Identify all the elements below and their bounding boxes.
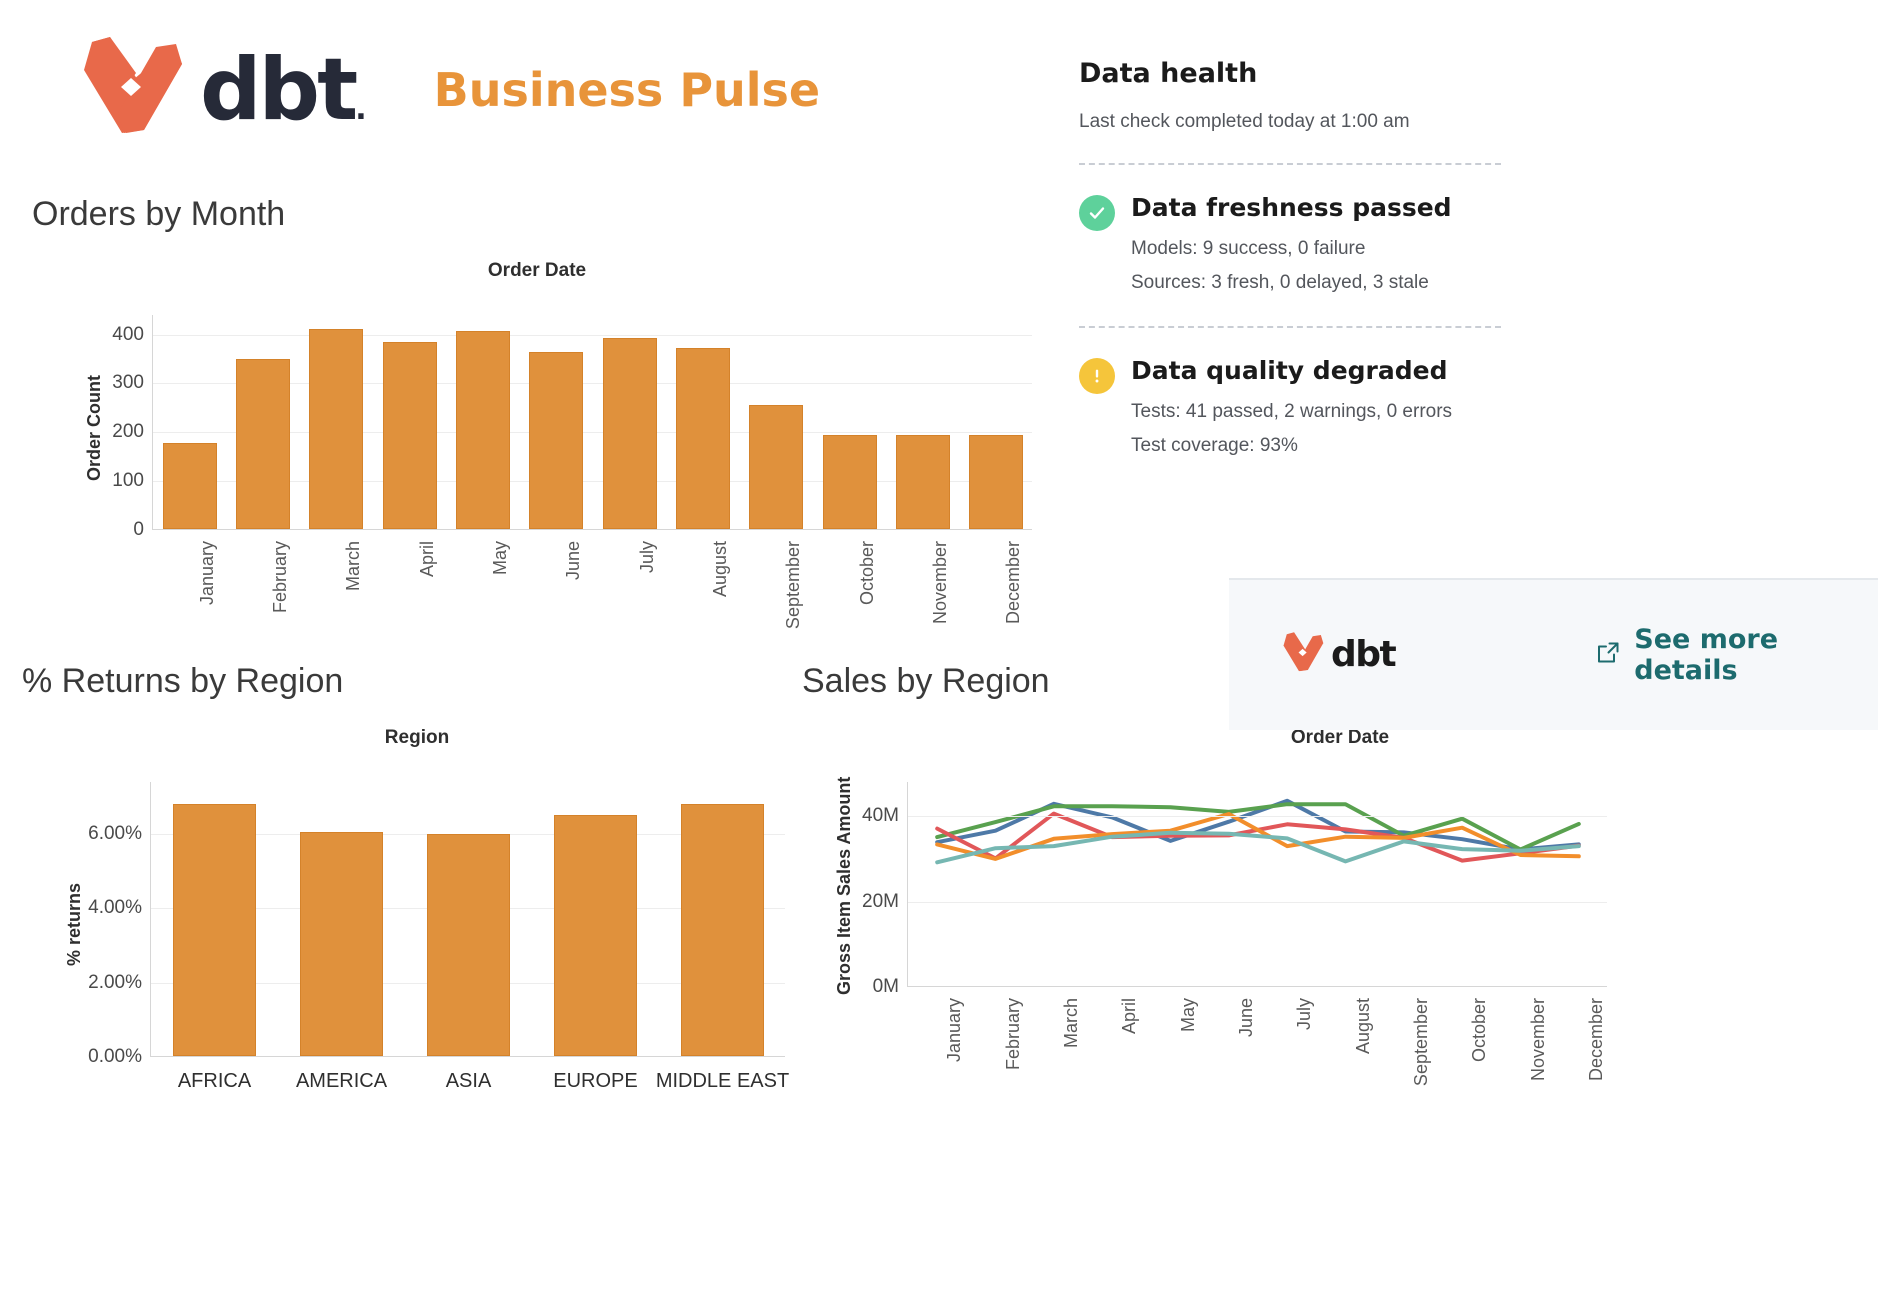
returns-column-title: Region bbox=[22, 727, 812, 749]
dbt-wordmark-dot: . bbox=[355, 92, 363, 127]
dbt-logo: dbt. bbox=[78, 34, 364, 145]
data-health-panel: Data health Last check completed today a… bbox=[1079, 58, 1509, 469]
x-axis-tick: August bbox=[710, 541, 731, 597]
x-axis-tick: February bbox=[1003, 998, 1024, 1070]
returns-plot-area: 0.00%2.00%4.00%6.00%AFRICAAMERICAASIAEUR… bbox=[150, 782, 785, 1057]
health-item-quality-body: Data quality degraded Tests: 41 passed, … bbox=[1131, 356, 1509, 469]
returns-by-region-chart: Region % returns 0.00%2.00%4.00%6.00%AFR… bbox=[22, 727, 812, 1117]
dashboard-page: dbt. Business Pulse Orders by Month Orde… bbox=[0, 0, 1878, 1312]
y-axis-tick: 300 bbox=[112, 372, 144, 394]
x-axis-tick: January bbox=[197, 541, 218, 605]
exclamation-circle-icon bbox=[1079, 358, 1115, 394]
health-item-freshness-body: Data freshness passed Models: 9 success,… bbox=[1131, 193, 1509, 306]
x-axis-tick: April bbox=[417, 541, 438, 577]
dbt-x-logo-icon bbox=[78, 34, 186, 145]
bar[interactable] bbox=[969, 435, 1023, 529]
dashboard-header: dbt. Business Pulse bbox=[78, 34, 820, 145]
health-item-quality-line-1: Tests: 41 passed, 2 warnings, 0 errors bbox=[1131, 401, 1509, 423]
bar[interactable] bbox=[309, 329, 363, 529]
y-axis-tick: 20M bbox=[862, 891, 899, 913]
footer-dbt-wordmark: dbt bbox=[1331, 637, 1395, 673]
x-axis-tick: May bbox=[1178, 998, 1199, 1032]
sales-column-title: Order Date bbox=[802, 727, 1878, 749]
x-axis-tick: November bbox=[930, 541, 951, 624]
y-axis-tick: 6.00% bbox=[88, 823, 142, 845]
x-axis-tick: September bbox=[1411, 998, 1432, 1086]
sales-line-svg bbox=[908, 782, 1608, 987]
x-axis-tick: August bbox=[1353, 998, 1374, 1054]
dbt-wordmark: dbt. bbox=[200, 47, 364, 133]
x-axis-tick: EUROPE bbox=[553, 1070, 637, 1093]
dbt-wordmark-text: dbt bbox=[200, 40, 355, 140]
health-item-quality-line-2: Test coverage: 93% bbox=[1131, 435, 1509, 457]
y-axis-tick: 0.00% bbox=[88, 1046, 142, 1068]
x-axis-tick: March bbox=[1061, 998, 1082, 1048]
sales-y-axis-label: Gross Item Sales Amount bbox=[834, 776, 855, 994]
sales-plot-area: 0M20M40MJanuaryFebruaryMarchAprilMayJune… bbox=[907, 782, 1607, 987]
x-axis-tick: November bbox=[1528, 998, 1549, 1081]
orders-by-month-title: Orders by Month bbox=[32, 195, 1042, 234]
x-axis-tick: October bbox=[857, 541, 878, 605]
data-health-title: Data health bbox=[1079, 58, 1509, 89]
x-axis-tick: MIDDLE EAST bbox=[656, 1070, 789, 1093]
y-axis-tick: 0M bbox=[873, 976, 899, 998]
y-axis-tick: 4.00% bbox=[88, 897, 142, 919]
x-axis-tick: ASIA bbox=[446, 1070, 492, 1093]
y-axis-tick: 0 bbox=[133, 519, 144, 541]
gridline bbox=[908, 902, 1607, 903]
bar[interactable] bbox=[300, 832, 384, 1056]
health-item-freshness-line-1: Models: 9 success, 0 failure bbox=[1131, 238, 1509, 260]
bar[interactable] bbox=[681, 804, 765, 1056]
x-axis-tick: September bbox=[783, 541, 804, 629]
y-axis-tick: 40M bbox=[862, 805, 899, 827]
x-axis-tick: June bbox=[1236, 998, 1257, 1037]
x-axis-tick: July bbox=[1294, 998, 1315, 1030]
health-item-freshness-heading: Data freshness passed bbox=[1131, 193, 1509, 222]
x-axis-tick: February bbox=[270, 541, 291, 613]
sales-by-region-chart: Order Date Gross Item Sales Amount 0M20M… bbox=[802, 727, 1878, 1127]
orders-plot-area: 0100200300400JanuaryFebruaryMarchAprilMa… bbox=[152, 315, 1032, 530]
x-axis-tick: May bbox=[490, 541, 511, 575]
page-title: Business Pulse bbox=[434, 63, 821, 117]
sales-by-region-panel: Sales by Region Order Date Gross Item Sa… bbox=[802, 662, 1878, 1127]
x-axis-tick: July bbox=[637, 541, 658, 573]
gridline bbox=[908, 816, 1607, 817]
bar[interactable] bbox=[456, 331, 510, 529]
orders-column-title: Order Date bbox=[32, 260, 1042, 282]
bar[interactable] bbox=[529, 352, 583, 529]
external-link-icon bbox=[1595, 640, 1621, 671]
bar[interactable] bbox=[749, 405, 803, 529]
bar[interactable] bbox=[427, 834, 511, 1056]
gridline bbox=[153, 335, 1032, 336]
returns-y-axis-label: % returns bbox=[64, 882, 85, 965]
x-axis-tick: April bbox=[1119, 998, 1140, 1034]
x-axis-tick: AFRICA bbox=[178, 1070, 251, 1093]
check-circle-icon bbox=[1079, 195, 1115, 231]
health-item-freshness[interactable]: Data freshness passed Models: 9 success,… bbox=[1079, 165, 1509, 306]
health-item-freshness-line-2: Sources: 3 fresh, 0 delayed, 3 stale bbox=[1131, 272, 1509, 294]
bar[interactable] bbox=[554, 815, 638, 1056]
bar[interactable] bbox=[603, 338, 657, 529]
orders-by-month-chart: Order Date Order Count 0100200300400Janu… bbox=[32, 260, 1042, 660]
x-axis-tick: March bbox=[343, 541, 364, 591]
x-axis-tick: December bbox=[1586, 998, 1607, 1081]
dbt-x-logo-icon bbox=[1281, 631, 1325, 679]
returns-by-region-panel: % Returns by Region Region % returns 0.0… bbox=[22, 662, 812, 1117]
x-axis-tick: January bbox=[944, 998, 965, 1062]
returns-by-region-title: % Returns by Region bbox=[22, 662, 812, 701]
x-axis-tick: June bbox=[563, 541, 584, 580]
bar[interactable] bbox=[173, 804, 257, 1056]
y-axis-tick: 200 bbox=[112, 421, 144, 443]
bar[interactable] bbox=[823, 435, 877, 529]
see-more-details-link[interactable]: See more details bbox=[1595, 624, 1878, 686]
orders-by-month-panel: Orders by Month Order Date Order Count 0… bbox=[32, 195, 1042, 660]
see-more-details-label: See more details bbox=[1634, 624, 1878, 686]
y-axis-tick: 100 bbox=[112, 470, 144, 492]
data-health-footer-card: dbt See more details bbox=[1229, 578, 1878, 730]
y-axis-tick: 400 bbox=[112, 324, 144, 346]
bar[interactable] bbox=[163, 443, 217, 529]
bar[interactable] bbox=[383, 342, 437, 529]
health-item-quality-heading: Data quality degraded bbox=[1131, 356, 1509, 385]
x-axis-tick: December bbox=[1003, 541, 1024, 624]
orders-y-axis-label: Order Count bbox=[84, 375, 105, 481]
bar[interactable] bbox=[676, 348, 730, 529]
bar[interactable] bbox=[236, 359, 290, 529]
y-axis-tick: 2.00% bbox=[88, 972, 142, 994]
data-health-subtitle: Last check completed today at 1:00 am bbox=[1079, 111, 1509, 133]
x-axis-tick: AMERICA bbox=[296, 1070, 387, 1093]
health-spacer-1 bbox=[1079, 306, 1509, 326]
bar[interactable] bbox=[896, 435, 950, 529]
health-item-quality[interactable]: Data quality degraded Tests: 41 passed, … bbox=[1079, 328, 1509, 469]
x-axis-tick: October bbox=[1469, 998, 1490, 1062]
footer-dbt-logo: dbt bbox=[1281, 631, 1395, 679]
